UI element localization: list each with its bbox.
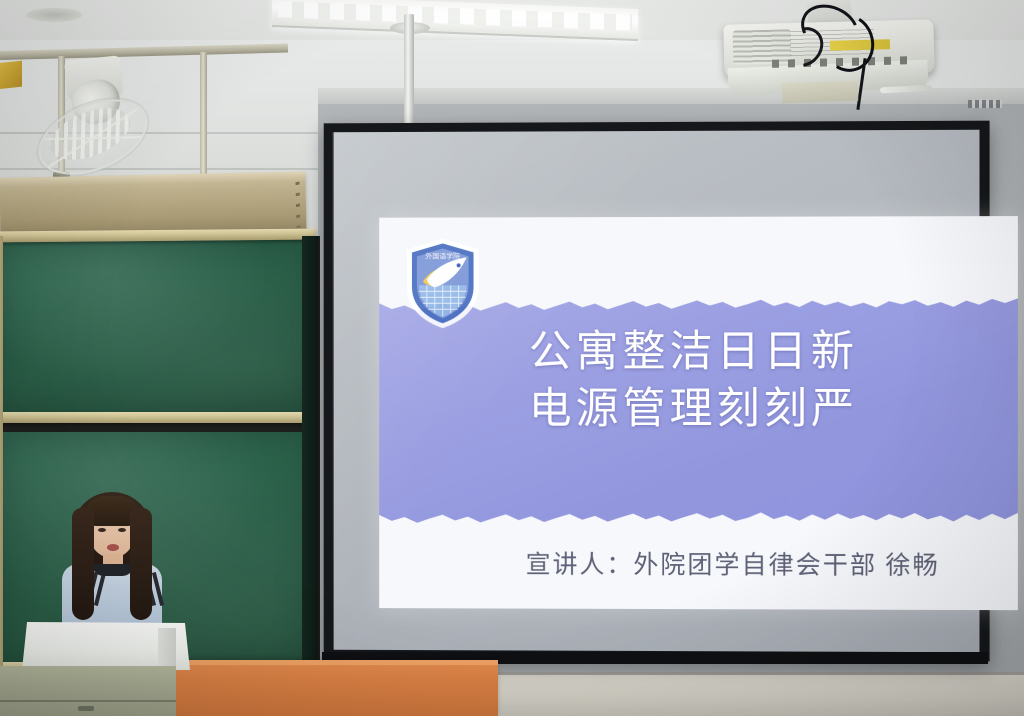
hair-strand-right <box>130 508 152 620</box>
desk-top-edge <box>176 660 498 665</box>
chalkboard-ledge <box>0 412 316 423</box>
chalkboard-side-trim <box>0 236 3 672</box>
band-bottom-torn-edge <box>379 505 1018 530</box>
slide-title: 公寓整洁日日新 电源管理刻刻严 <box>379 325 1018 439</box>
slide-title-line-2: 电源管理刻刻严 <box>379 382 1010 439</box>
green-chalkboard-upper <box>0 240 316 412</box>
projector-mount-plate <box>782 81 859 104</box>
hair-strand-left <box>72 508 94 620</box>
screen-surface: 外国语学院 公寓整洁日日新 电源管理刻刻严 宣讲人：外院团学自律会干部 徐畅 <box>334 130 980 653</box>
wall-sticker-tag <box>968 100 1002 108</box>
presentation-slide: 外国语学院 公寓整洁日日新 电源管理刻刻严 宣讲人：外院团学自律会干部 徐畅 <box>379 216 1018 610</box>
school-shield-emblem-icon: 外国语学院 <box>401 235 484 331</box>
classroom-photo-scene: 外国语学院 公寓整洁日日新 电源管理刻刻严 宣讲人：外院团学自律会干部 徐畅 <box>0 0 1024 716</box>
shirt-collar <box>92 564 134 576</box>
eye-right <box>118 528 126 532</box>
metal-support-rail <box>200 52 207 180</box>
podium-drawer-handle <box>78 706 94 711</box>
ceiling-vent <box>26 8 82 22</box>
slide-subtitle: 宣讲人：外院团学自律会干部 徐畅 <box>379 544 1018 582</box>
svg-text:外国语学院: 外国语学院 <box>425 251 460 260</box>
chalkboard-right-edge <box>302 236 318 676</box>
yellow-wall-box <box>0 61 22 90</box>
projection-screen: 外国语学院 公寓整洁日日新 电源管理刻刻严 宣讲人：外院团学自律会干部 徐畅 <box>324 121 990 662</box>
mouth <box>107 544 119 551</box>
eye-left <box>98 528 106 532</box>
orange-wooden-desk <box>176 660 498 716</box>
hanging-pole <box>404 14 414 132</box>
podium-drawer-line <box>0 700 176 702</box>
beam-rivets <box>295 182 300 228</box>
slide-title-line-1: 公寓整洁日日新 <box>379 325 1010 382</box>
